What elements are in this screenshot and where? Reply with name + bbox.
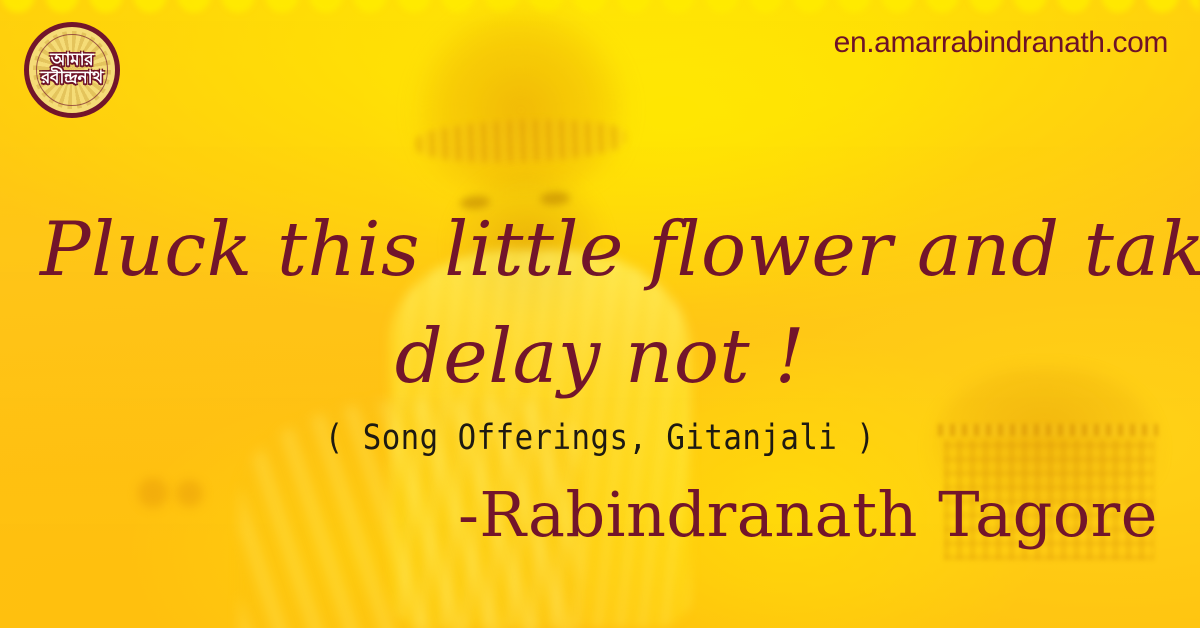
quote-line-1: Pluck this little flower and take it,	[40, 196, 1160, 303]
quote-card: আমার রবীন্দ্রনাথ en.amarrabindranath.com…	[0, 0, 1200, 628]
site-logo-badge[interactable]: আমার রবীন্দ্রনাথ	[24, 22, 120, 118]
quote-line-2: delay not !	[40, 303, 1160, 410]
logo-text-line2: রবীন্দ্রনাথ	[41, 68, 103, 88]
logo-text: আমার রবীন্দ্রনাথ	[41, 52, 103, 87]
quote-text: Pluck this little flower and take it, de…	[0, 196, 1200, 409]
quote-source: ( Song Offerings, Gitanjali )	[72, 418, 1128, 458]
site-url[interactable]: en.amarrabindranath.com	[834, 26, 1168, 60]
quote-attribution: -Rabindranath Tagore	[458, 478, 1158, 551]
